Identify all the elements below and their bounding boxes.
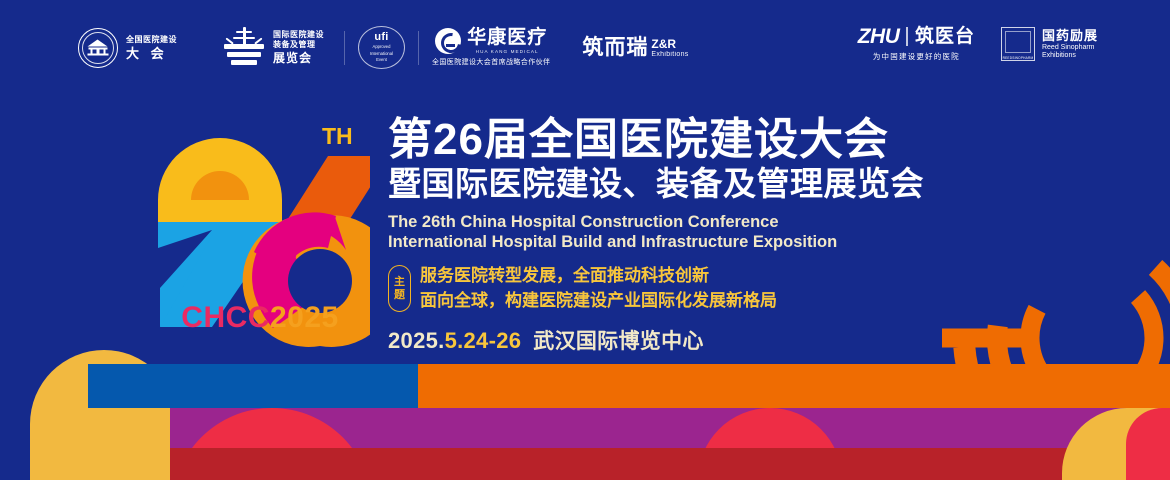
chcc-wordmark: CHCC2025 — [150, 303, 370, 333]
zhuyitai-divider — [906, 27, 908, 46]
poster-canvas: 全国医院建设 大 会 国际医院建设 装备及管理 展览会 — [0, 0, 1170, 480]
partner-logo-zhuyitai[interactable]: ZHU 筑医台 为中国建设更好的医院 — [858, 26, 975, 62]
ufi-name: ufi — [374, 32, 388, 43]
sinopharm-name-en-1: Reed Sinopharm — [1042, 44, 1098, 52]
partner-logo-international-exhibition[interactable]: 国际医院建设 装备及管理 展览会 — [222, 27, 324, 69]
theme-section: 主 题 服务医院转型发展，全面推动科技创新 面向全球，构建医院建设产业国际化发展… — [388, 265, 948, 312]
subtitle-en-line1: The 26th China Hospital Construction Con… — [388, 212, 948, 232]
exhibition-logo-line2: 装备及管理 — [273, 41, 324, 49]
zhurui-name-en-1: Z&R — [651, 38, 688, 51]
huakang-leaf-icon — [435, 28, 461, 54]
huakang-name-cn: 华康医疗 — [467, 28, 547, 47]
page-subtitle-cn: 暨国际医院建设、装备及管理展览会 — [388, 166, 948, 203]
page-title: 第26届全国医院建设大会 — [388, 118, 948, 162]
zhurui-name-en-2: Exhibitions — [651, 51, 688, 58]
date-range: 5.24-26 — [445, 328, 522, 353]
partner-logo-chcc-conference[interactable]: 全国医院建设 大 会 — [78, 28, 177, 68]
partner-logo-zhurui[interactable]: 筑而瑞 Z&R Exhibitions — [582, 37, 688, 58]
theme-line-1: 服务医院转型发展，全面推动科技创新 — [420, 265, 777, 287]
zhuyitai-tagline: 为中国建设更好的医院 — [873, 51, 960, 62]
exhibition-logo-line3: 展览会 — [273, 52, 324, 64]
date-venue-bar: 2025.5.24-26武汉国际博览中心 — [388, 325, 948, 355]
ufi-sub3: Event — [376, 57, 387, 63]
partner-logos-right: ZHU 筑医台 为中国建设更好的医院 REEDSINOPHARM 国药励展 Re… — [858, 26, 1098, 62]
partner-logo-reed-sinopharm[interactable]: REEDSINOPHARM 国药励展 Reed Sinopharm Exhibi… — [1001, 27, 1098, 61]
theme-badge-char2: 题 — [394, 289, 405, 302]
main-text-block: 第26届全国医院建设大会 暨国际医院建设、装备及管理展览会 The 26th C… — [388, 118, 948, 355]
theme-badge-char1: 主 — [394, 276, 405, 289]
sinopharm-name-en-2: Exhibitions — [1042, 52, 1098, 60]
zhuyitai-name-cn: 筑医台 — [915, 27, 975, 46]
chcc-wordmark-secondary: 2025 — [270, 301, 339, 334]
partner-logos-left: 全国医院建设 大 会 国际医院建设 装备及管理 展览会 — [78, 26, 689, 69]
chcc-logo-line1: 全国医院建设 — [126, 36, 177, 44]
snowflake-exhibition-icon — [222, 27, 266, 69]
huakang-name-en: HUA KANG MEDICAL — [476, 49, 539, 54]
exhibition-logo-line1: 国际医院建设 — [273, 31, 324, 39]
svg-text:TH: TH — [322, 123, 353, 149]
chcc-wordmark-primary: CHCC — [181, 301, 270, 334]
darkred-band — [170, 448, 1170, 480]
date-prefix: 2025. — [388, 328, 445, 353]
chcc-seal-icon — [78, 28, 118, 68]
bottom-color-bands — [0, 350, 1170, 480]
huakang-tagline: 全国医院建设大会首席战略合作伙伴 — [432, 57, 550, 67]
reed-sinopharm-badge-caption: REEDSINOPHARM — [1002, 56, 1034, 60]
logo-divider-1 — [344, 31, 345, 65]
zhuyitai-mark: ZHU — [858, 26, 900, 47]
partner-logo-ufi[interactable]: ufi Approved International Event — [358, 26, 405, 69]
logo-divider-2 — [418, 31, 419, 65]
orange-band — [418, 364, 1170, 408]
zhurui-name-cn: 筑而瑞 — [582, 37, 648, 58]
chcc-logo-line2: 大 会 — [126, 47, 177, 60]
theme-badge: 主 题 — [388, 265, 411, 312]
partner-logo-huakang-medical[interactable]: 华康医疗 HUA KANG MEDICAL 全国医院建设大会首席战略合作伙伴 — [432, 28, 550, 67]
ufi-sub2: International — [370, 51, 393, 57]
reed-sinopharm-icon: REEDSINOPHARM — [1001, 27, 1035, 61]
ufi-sub1: Approved — [373, 44, 391, 50]
partner-logo-bar: 全国医院建设 大 会 国际医院建设 装备及管理 展览会 — [0, 0, 1170, 92]
subtitle-en-line2: International Hospital Build and Infrast… — [388, 232, 948, 252]
theme-line-2: 面向全球，构建医院建设产业国际化发展新格局 — [420, 290, 777, 312]
ufi-seal-icon: ufi Approved International Event — [358, 26, 405, 69]
sinopharm-name-cn: 国药励展 — [1042, 29, 1098, 43]
venue-name: 武汉国际博览中心 — [533, 330, 703, 353]
